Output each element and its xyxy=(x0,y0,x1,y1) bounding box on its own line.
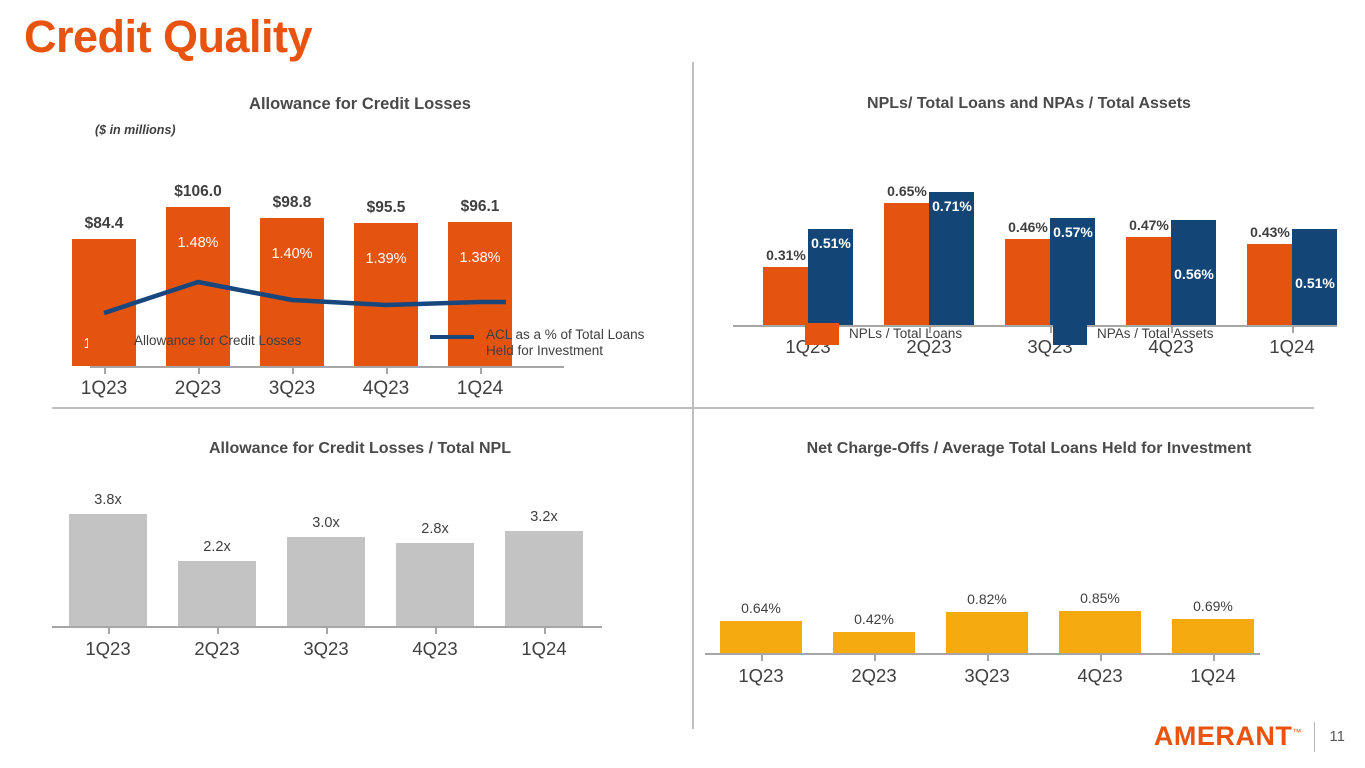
chart-panel-allowance-for-credit-losses: Allowance for Credit Losses ($ in millio… xyxy=(40,95,680,395)
footer-separator xyxy=(1314,722,1316,752)
category-label: 3Q23 xyxy=(931,665,1043,687)
horizontal-divider xyxy=(52,407,1314,409)
bar-npls-total-loans[interactable] xyxy=(763,267,808,325)
axis-tick xyxy=(544,627,546,634)
legend-label: ACL as a % of Total LoansHeld for Invest… xyxy=(486,327,644,359)
bar[interactable] xyxy=(505,531,583,626)
category-label: 1Q24 xyxy=(1157,665,1269,687)
bar-value-label-npls: 0.47% xyxy=(1114,217,1184,233)
bar-value-label: 0.85% xyxy=(1050,590,1150,606)
chart-legend: NPLs / Total Loans NPAs / Total Assets xyxy=(805,323,1365,353)
bar-value-label: 0.64% xyxy=(711,600,811,616)
bar[interactable] xyxy=(946,612,1028,653)
legend-line-marker-icon xyxy=(430,335,474,339)
plot-area: 0.64%1Q230.42%2Q230.82%3Q230.85%4Q230.69… xyxy=(705,485,1353,695)
axis-tick xyxy=(874,654,876,661)
bar-value-label-npas: 0.56% xyxy=(1158,266,1230,282)
category-label: 4Q23 xyxy=(1044,665,1156,687)
axis-tick xyxy=(435,627,437,634)
bar-value-label: 3.8x xyxy=(58,492,158,508)
axis-tick xyxy=(1213,654,1215,661)
bar[interactable] xyxy=(833,632,915,653)
bar-value-label-npas: 0.51% xyxy=(795,235,867,251)
legend-color-swatch-icon xyxy=(1053,323,1087,345)
bar[interactable] xyxy=(69,514,147,626)
category-label: 1Q23 xyxy=(705,665,817,687)
footer: AMERANT™ 11 xyxy=(1154,721,1345,752)
legend-item-npas-total-assets[interactable]: NPAs / Total Assets xyxy=(1053,323,1214,345)
bar-value-label: 3.2x xyxy=(494,509,594,525)
bar-value-label: 2.2x xyxy=(167,539,267,555)
chart-title: Allowance for Credit Losses / Total NPL xyxy=(40,440,680,458)
bar-value-label-npls: 0.43% xyxy=(1235,224,1305,240)
chart-panel-net-charge-offs: Net Charge-Offs / Average Total Loans He… xyxy=(705,440,1353,695)
legend-item-allowance[interactable]: Allowance for Credit Losses xyxy=(88,333,301,352)
amerant-logo: AMERANT™ xyxy=(1154,721,1302,752)
bar-value-label-npas: 0.57% xyxy=(1037,224,1109,240)
bar-value-label: 3.0x xyxy=(276,515,376,531)
chart-panel-acl-total-npl: Allowance for Credit Losses / Total NPL … xyxy=(40,440,680,695)
chart-legend: Allowance for Credit Losses ACL as a % o… xyxy=(88,327,688,373)
bar[interactable] xyxy=(178,561,256,626)
chart-subtitle-units: ($ in millions) xyxy=(95,123,176,137)
vertical-divider xyxy=(692,62,694,729)
axis-tick xyxy=(761,654,763,661)
bar[interactable] xyxy=(720,621,802,653)
category-label: 1Q24 xyxy=(490,638,598,660)
axis-tick xyxy=(108,627,110,634)
legend-label: Allowance for Credit Losses xyxy=(134,333,301,349)
bar-value-label-npas: 0.51% xyxy=(1279,275,1351,291)
legend-label: NPLs / Total Loans xyxy=(849,326,962,342)
chart-title: Allowance for Credit Losses xyxy=(40,95,680,114)
legend-label: NPAs / Total Assets xyxy=(1097,326,1214,342)
legend-item-npls-total-loans[interactable]: NPLs / Total Loans xyxy=(805,323,962,345)
bar-npls-total-loans[interactable] xyxy=(1005,239,1050,325)
x-axis-line xyxy=(705,653,1260,655)
axis-tick xyxy=(987,654,989,661)
brand-name: AMERANT xyxy=(1154,721,1293,751)
plot-area: 3.8x1Q232.2x2Q233.0x3Q232.8x4Q233.2x1Q24 xyxy=(40,485,680,695)
bar-value-label: 0.82% xyxy=(937,591,1037,607)
trademark-icon: ™ xyxy=(1292,727,1302,737)
bar-value-label-npls: 0.65% xyxy=(872,183,942,199)
bar[interactable] xyxy=(1172,619,1254,654)
category-label: 1Q23 xyxy=(54,638,162,660)
page-number: 11 xyxy=(1329,728,1345,745)
bar[interactable] xyxy=(287,537,365,626)
chart-panel-npls-npas: NPLs/ Total Loans and NPAs / Total Asset… xyxy=(705,95,1353,395)
category-label: 3Q23 xyxy=(272,638,380,660)
category-label: 4Q23 xyxy=(381,638,489,660)
chart-title: NPLs/ Total Loans and NPAs / Total Asset… xyxy=(705,95,1353,113)
legend-color-swatch-icon xyxy=(88,335,124,352)
bar-value-label: 0.69% xyxy=(1163,598,1263,614)
page-title: Credit Quality xyxy=(24,14,312,59)
legend-color-swatch-icon xyxy=(805,323,839,345)
bar-value-label: 2.8x xyxy=(385,521,485,537)
bar[interactable] xyxy=(1059,611,1141,654)
legend-item-acl-percent[interactable]: ACL as a % of Total LoansHeld for Invest… xyxy=(430,327,644,359)
axis-tick xyxy=(1100,654,1102,661)
axis-tick xyxy=(217,627,219,634)
category-label: 2Q23 xyxy=(163,638,271,660)
bar-npls-total-loans[interactable] xyxy=(884,203,929,325)
bar[interactable] xyxy=(396,543,474,626)
bar-value-label: 0.42% xyxy=(824,611,924,627)
category-label: 2Q23 xyxy=(818,665,930,687)
chart-title: Net Charge-Offs / Average Total Loans He… xyxy=(705,440,1353,458)
axis-tick xyxy=(326,627,328,634)
bar-value-label-npas: 0.71% xyxy=(916,198,988,214)
